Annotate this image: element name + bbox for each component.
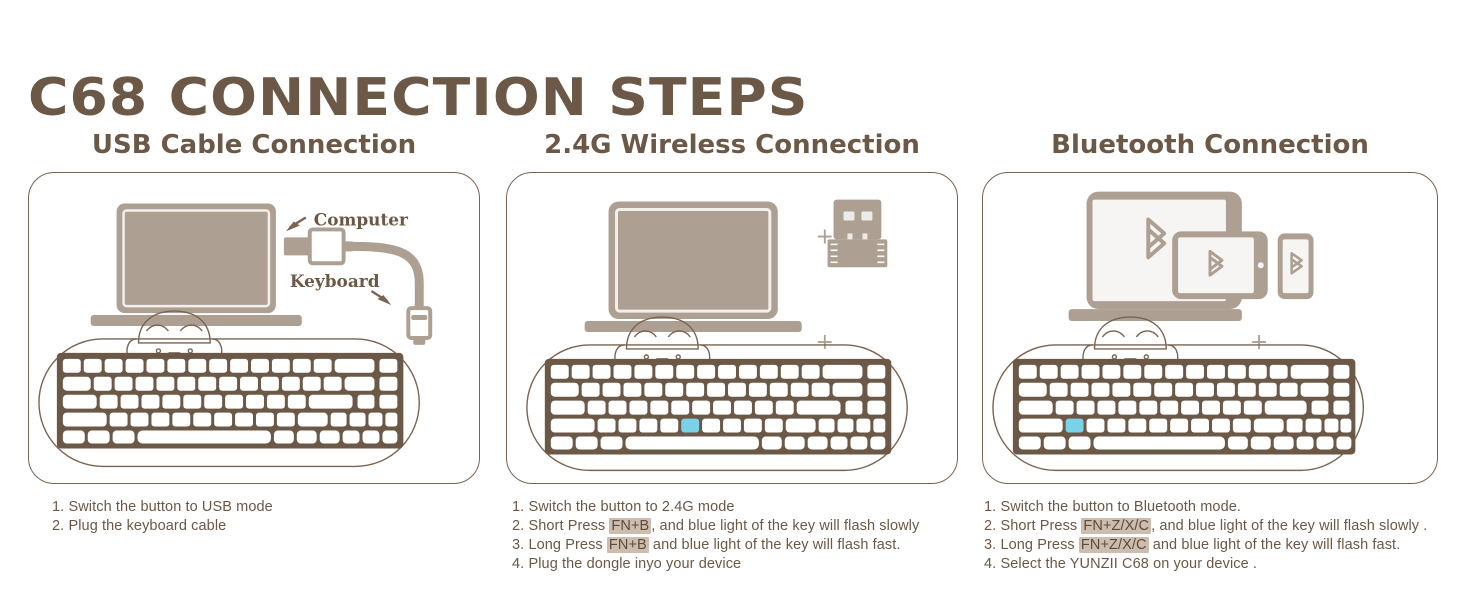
step-text: and blue light of the key will flash fas…: [1149, 537, 1401, 553]
blue-highlighted-key-b: [681, 419, 699, 433]
step-number: 1.: [52, 499, 64, 515]
steps-list-usb: 1. Switch the button to USB mode 2. Plug…: [28, 498, 480, 536]
plus-sign: +: [1250, 330, 1268, 355]
keyboard-icon: [1013, 359, 1355, 455]
phone-with-bluetooth-icon: [1278, 233, 1314, 299]
steps-list-bluetooth: 1. Switch the button to Bluetooth mode. …: [982, 498, 1438, 574]
step-text: Plug the keyboard cable: [68, 518, 226, 534]
column-title-wireless: 2.4G Wireless Connection: [506, 130, 958, 166]
page-title: C68 CONNECTION STEPS: [28, 68, 809, 128]
usb-a-connector-icon: [284, 229, 354, 263]
step-text: , and blue light of the key will flash s…: [1151, 518, 1427, 534]
blue-highlighted-key-z: [1066, 419, 1084, 433]
computer-label: Computer: [314, 209, 409, 229]
step-item: 1. Switch the button to 2.4G mode: [512, 498, 958, 517]
step-item: 2. Plug the keyboard cable: [52, 517, 480, 536]
step-item: 1. Switch the button to Bluetooth mode.: [984, 498, 1438, 517]
illustration-panel-wireless: + +: [506, 172, 958, 484]
key-combo-badge: FN+B: [609, 518, 651, 534]
step-number: 4.: [512, 556, 524, 572]
step-item: 1. Switch the button to USB mode: [52, 498, 480, 517]
laptop-icon: [585, 202, 802, 332]
bluetooth-illustration: +: [983, 173, 1437, 483]
keyboard-icon: [545, 359, 891, 455]
illustration-panel-bluetooth: +: [982, 172, 1438, 484]
step-text: Switch the button to Bluetooth mode.: [1000, 499, 1241, 515]
column-title-bluetooth: Bluetooth Connection: [982, 130, 1438, 166]
connection-steps-infographic: C68 CONNECTION STEPS USB Cable Connectio…: [0, 0, 1464, 600]
step-number: 4.: [984, 556, 996, 572]
plus-sign-bottom: +: [816, 330, 834, 355]
tablet-with-bluetooth-icon: [1172, 231, 1268, 299]
keyboard-arrow-icon: [371, 291, 391, 305]
step-text: and blue light of the key will flash fas…: [649, 537, 901, 553]
step-number: 3.: [984, 537, 996, 553]
step-text: Plug the dongle inyo your device: [528, 556, 741, 572]
usb-c-connector-icon: [408, 308, 430, 345]
column-title-usb: USB Cable Connection: [28, 130, 480, 166]
step-text: Long Press: [528, 537, 606, 553]
steps-list-wireless: 1. Switch the button to 2.4G mode 2. Sho…: [506, 498, 958, 574]
step-text: Long Press: [1000, 537, 1078, 553]
computer-arrow-icon: [286, 217, 306, 231]
key-combo-badge: FN+Z/X/C: [1081, 518, 1151, 534]
keyboard-icon: [57, 353, 403, 449]
step-text: Select the YUNZII C68 on your device .: [1000, 556, 1257, 572]
column-bluetooth: Bluetooth Connection: [982, 130, 1438, 574]
step-number: 2.: [512, 518, 524, 534]
key-combo-badge: FN+B: [607, 537, 649, 553]
step-text: Short Press: [1000, 518, 1081, 534]
step-item: 4. Plug the dongle inyo your device: [512, 555, 958, 574]
step-number: 3.: [512, 537, 524, 553]
step-item: 3. Long Press FN+Z/X/C and blue light of…: [984, 536, 1438, 555]
step-text: Short Press: [528, 518, 609, 534]
step-item: 4. Select the YUNZII C68 on your device …: [984, 555, 1438, 574]
keyboard-label: Keyboard: [290, 271, 380, 291]
usb-dongle-icon: [828, 200, 888, 268]
step-number: 2.: [52, 518, 64, 534]
step-item: 2. Short Press FN+Z/X/C, and blue light …: [984, 517, 1438, 536]
column-usb: USB Cable Connection Computer: [28, 130, 480, 536]
step-number: 1.: [512, 499, 524, 515]
usb-illustration: Computer: [29, 173, 479, 483]
step-number: 2.: [984, 518, 996, 534]
key-combo-badge: FN+Z/X/C: [1079, 537, 1149, 553]
step-number: 1.: [984, 499, 996, 515]
step-text: , and blue light of the key will flash s…: [651, 518, 919, 534]
laptop-icon: [91, 204, 302, 326]
wireless-illustration: + +: [507, 173, 957, 483]
step-text: Switch the button to USB mode: [68, 499, 272, 515]
step-item: 2. Short Press FN+B, and blue light of t…: [512, 517, 958, 536]
column-wireless: 2.4G Wireless Connection +: [506, 130, 958, 574]
step-item: 3. Long Press FN+B and blue light of the…: [512, 536, 958, 555]
step-text: Switch the button to 2.4G mode: [528, 499, 734, 515]
illustration-panel-usb: Computer: [28, 172, 480, 484]
